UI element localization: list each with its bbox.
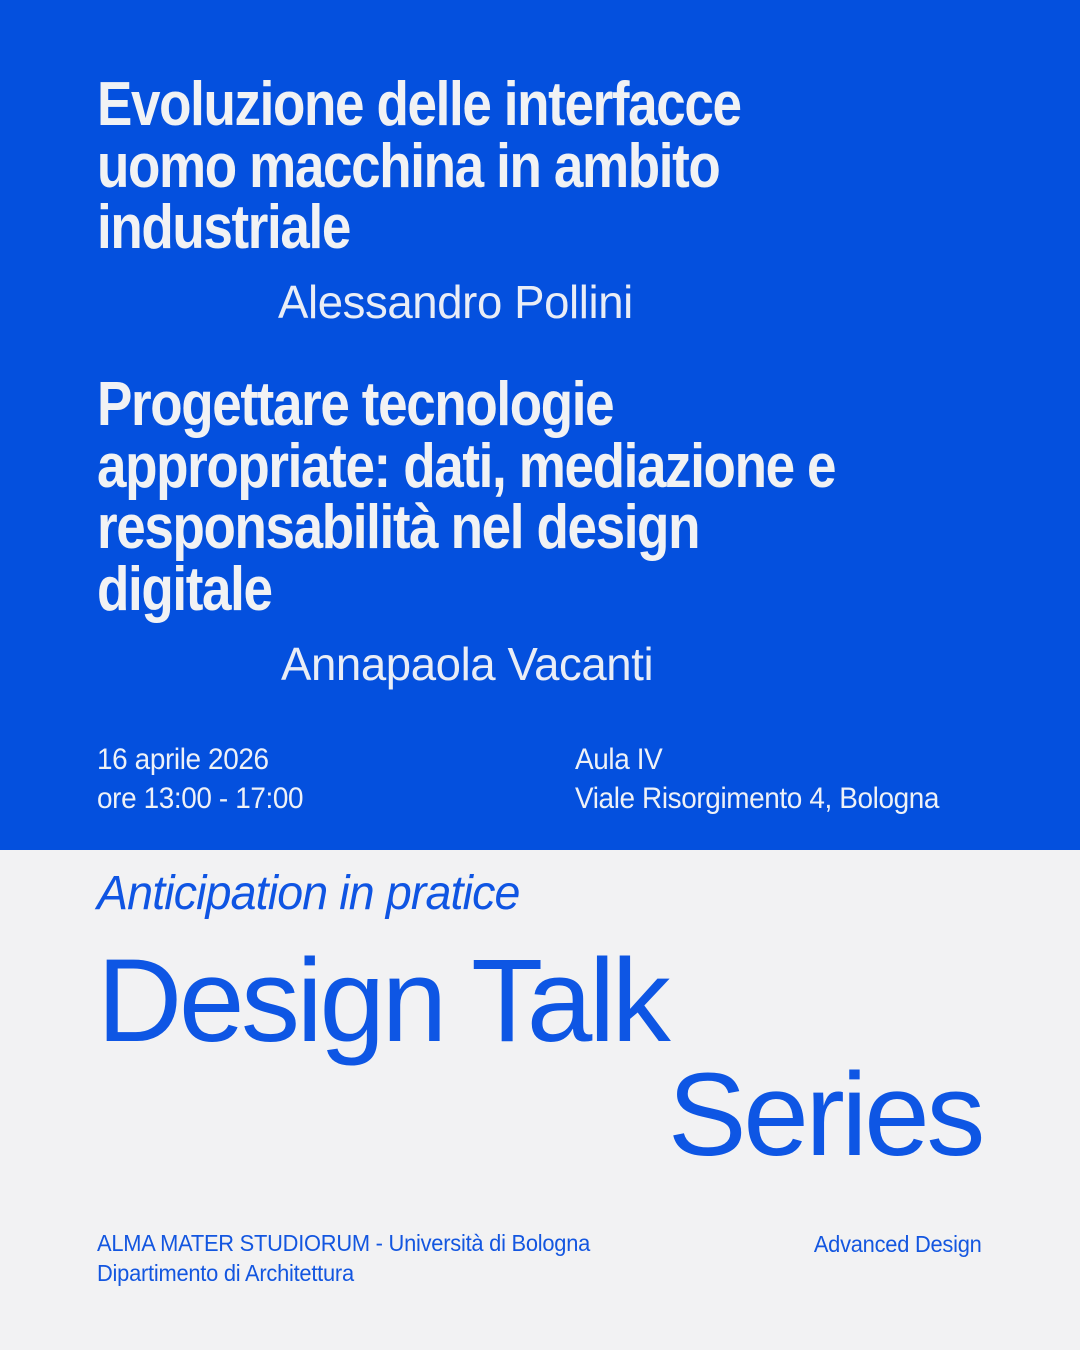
event-poster: Evoluzione delle interfacce uomo macchin… <box>0 0 1080 1350</box>
footer-programme-label: Advanced Design <box>814 1229 982 1259</box>
footer: ALMA MATER STUDIORUM - Università di Bol… <box>97 1228 982 1288</box>
talk-1-title: Evoluzione delle interfacce uomo macchin… <box>97 74 849 259</box>
event-address: Viale Risorgimento 4, Bologna <box>575 779 954 818</box>
footer-programme: Advanced Design <box>805 1228 982 1259</box>
light-panel: Anticipation in pratice Design Talk Seri… <box>0 850 1080 1350</box>
footer-institution-line-1: ALMA MATER STUDIORUM - Università di Bol… <box>97 1228 590 1258</box>
series-wordmark-line-2: Series <box>97 1059 982 1173</box>
event-meta: 16 aprile 2026 ore 13:00 - 17:00 Aula IV… <box>97 740 982 819</box>
event-location: Aula IV Viale Risorgimento 4, Bologna <box>575 740 982 819</box>
event-time: ore 13:00 - 17:00 <box>97 779 542 818</box>
talk-2-title: Progettare tecnologie appropriate: dati,… <box>97 374 849 621</box>
series-wordmark: Design Talk Series <box>97 945 982 1173</box>
series-kicker: Anticipation in pratice <box>97 870 519 918</box>
footer-institution-line-2: Dipartimento di Architettura <box>97 1258 590 1288</box>
event-room: Aula IV <box>575 740 954 779</box>
event-date: 16 aprile 2026 <box>97 740 542 779</box>
series-wordmark-line-1: Design Talk <box>97 945 982 1059</box>
talk-2-speaker: Annapaola Vacanti <box>281 641 653 687</box>
blue-panel: Evoluzione delle interfacce uomo macchin… <box>0 0 1080 850</box>
footer-institution: ALMA MATER STUDIORUM - Università di Bol… <box>97 1228 616 1288</box>
talk-1-speaker: Alessandro Pollini <box>278 279 633 325</box>
event-datetime: 16 aprile 2026 ore 13:00 - 17:00 <box>97 740 575 819</box>
